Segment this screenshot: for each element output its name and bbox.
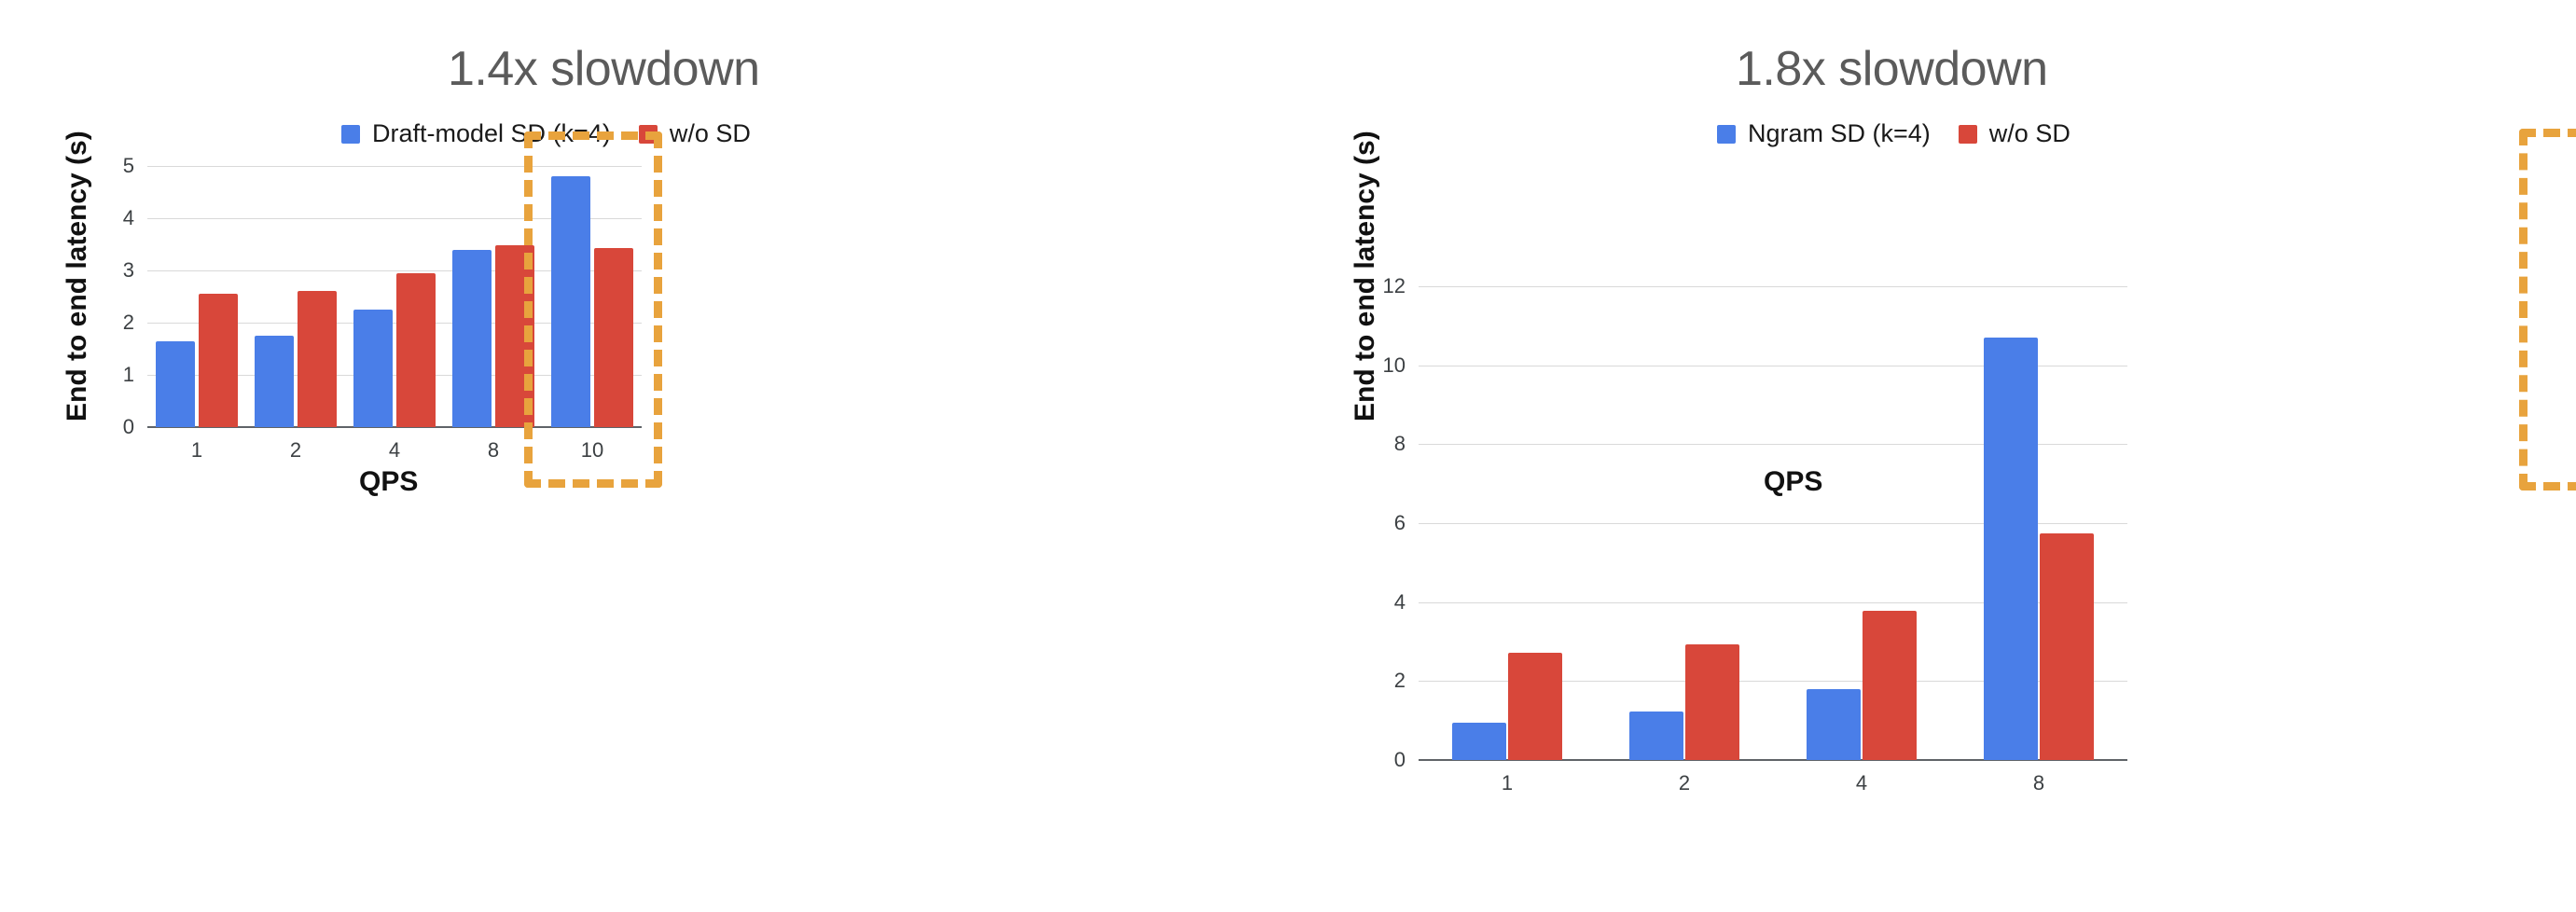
x-axis-tick-label-2: 2 <box>290 438 301 463</box>
bar-groups: 1248 <box>1419 286 2127 760</box>
x-axis-tick-label-1: 1 <box>1502 771 1513 795</box>
bar-series1-10[interactable] <box>551 176 590 427</box>
slowdown-annotation-left: 1.4x slowdown <box>448 41 760 97</box>
bar-series2-4[interactable] <box>396 273 436 427</box>
bar-series1-1[interactable] <box>156 341 195 427</box>
legend-entry-ngram-sd[interactable]: Ngram SD (k=4) <box>1717 119 1931 148</box>
bar-group-4: 4 <box>345 166 444 427</box>
y-axis-tick-label: 6 <box>1394 511 1406 535</box>
x-axis-tick-label-8: 8 <box>2033 771 2044 795</box>
highlight-box-right <box>2519 129 2576 491</box>
slowdown-annotation-right: 1.8x slowdown <box>1736 41 2048 97</box>
bar-group-1: 1 <box>147 166 246 427</box>
bar-group-10: 10 <box>543 166 642 427</box>
bar-series2-8[interactable] <box>495 245 534 427</box>
y-axis-tick-label: 8 <box>1394 432 1406 456</box>
bar-series1-8[interactable] <box>1984 338 2038 760</box>
bar-group-2: 2 <box>1596 286 1773 760</box>
y-axis-tick-label: 3 <box>123 258 134 283</box>
y-axis-tick-label: 5 <box>123 154 134 178</box>
bar-series2-10[interactable] <box>594 248 633 427</box>
y-axis-tick-label: 1 <box>123 363 134 387</box>
bar-series1-4[interactable] <box>353 310 393 427</box>
bar-group-8: 8 <box>444 166 543 427</box>
legend-left: Draft-model SD (k=4) w/o SD <box>341 119 751 148</box>
bar-series2-2[interactable] <box>1685 644 1739 760</box>
legend-label-ngram-sd: Ngram SD (k=4) <box>1748 119 1931 148</box>
legend-entry-wo-sd[interactable]: w/o SD <box>1959 119 2070 148</box>
y-axis-tick-label: 12 <box>1383 274 1406 298</box>
legend-entry-wo-sd[interactable]: w/o SD <box>639 119 751 148</box>
legend-label-wo-sd: w/o SD <box>1989 119 2070 148</box>
x-axis-tick-label-10: 10 <box>581 438 603 463</box>
y-axis-tick-label: 10 <box>1383 353 1406 378</box>
bar-series2-4[interactable] <box>1863 611 1917 760</box>
bar-group-4: 4 <box>1773 286 1950 760</box>
x-axis-title-right: QPS <box>1764 466 1822 498</box>
plot-area-left: 012345124810 <box>147 166 642 427</box>
legend-swatch-red-icon <box>639 125 658 144</box>
bar-group-1: 1 <box>1419 286 1596 760</box>
y-axis-tick-label: 0 <box>123 415 134 439</box>
y-axis-tick-label: 2 <box>1394 669 1406 693</box>
legend-label-draft-model-sd: Draft-model SD (k=4) <box>372 119 611 148</box>
legend-entry-draft-model-sd[interactable]: Draft-model SD (k=4) <box>341 119 611 148</box>
x-axis-title-left: QPS <box>359 466 418 498</box>
legend-label-wo-sd: w/o SD <box>670 119 751 148</box>
x-axis-tick-label-8: 8 <box>488 438 499 463</box>
bar-series1-4[interactable] <box>1807 689 1861 760</box>
y-axis-tick-label: 0 <box>1394 748 1406 772</box>
legend-swatch-red-icon <box>1959 125 1977 144</box>
legend-right: Ngram SD (k=4) w/o SD <box>1717 119 2070 148</box>
bar-series1-8[interactable] <box>452 250 492 427</box>
x-axis-tick-label-4: 4 <box>389 438 400 463</box>
bar-series1-2[interactable] <box>1629 712 1683 760</box>
bar-group-8: 8 <box>1950 286 2127 760</box>
chart-panel-ngram-sd: 1.8x slowdown End to end latency (s) Ngr… <box>1288 0 2576 912</box>
y-axis-tick-label: 4 <box>123 206 134 230</box>
y-axis-tick-label: 4 <box>1394 590 1406 615</box>
x-axis-tick-label-4: 4 <box>1856 771 1867 795</box>
bar-series2-2[interactable] <box>298 291 337 427</box>
legend-swatch-blue-icon <box>341 125 360 144</box>
bar-series1-1[interactable] <box>1452 723 1506 760</box>
bar-groups: 124810 <box>147 166 642 427</box>
plot-area-right: 0246810121248 <box>1419 286 2127 760</box>
bar-series2-8[interactable] <box>2040 533 2094 760</box>
y-axis-title-left: End to end latency (s) <box>62 131 93 421</box>
chart-panel-draft-model-sd: 1.4x slowdown End to end latency (s) Dra… <box>0 0 1288 912</box>
legend-swatch-blue-icon <box>1717 125 1736 144</box>
bar-series2-1[interactable] <box>199 294 238 427</box>
x-axis-tick-label-1: 1 <box>191 438 202 463</box>
bar-group-2: 2 <box>246 166 345 427</box>
y-axis-tick-label: 2 <box>123 311 134 335</box>
bar-series1-2[interactable] <box>255 336 294 427</box>
x-axis-tick-label-2: 2 <box>1679 771 1690 795</box>
y-axis-title-right: End to end latency (s) <box>1350 131 1381 421</box>
bar-series2-1[interactable] <box>1508 653 1562 760</box>
